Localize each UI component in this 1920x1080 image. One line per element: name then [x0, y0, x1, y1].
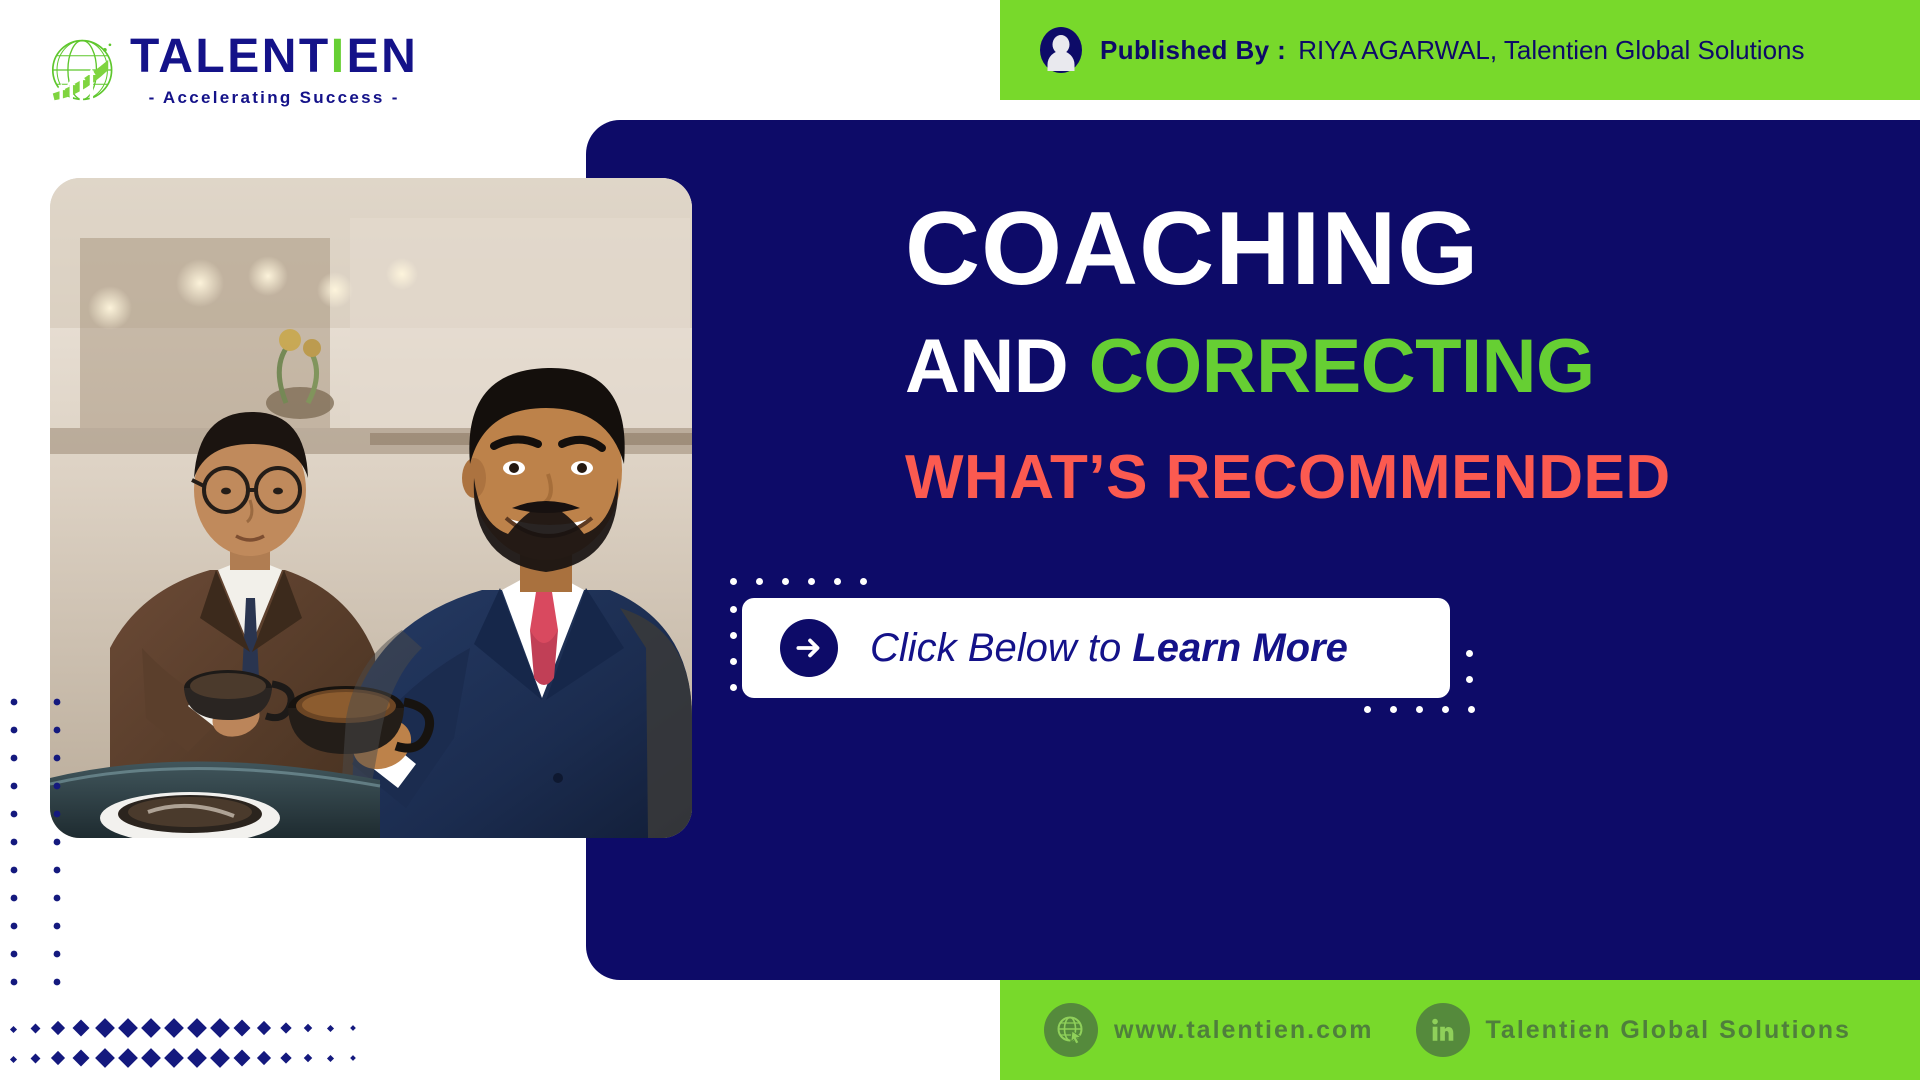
headline-line-2: AND CORRECTING — [905, 328, 1885, 406]
cta-label-normal: Click Below to — [870, 626, 1132, 670]
headline-line-1: COACHING — [905, 196, 1885, 302]
headline-line-2-green: CORRECTING — [1089, 324, 1595, 409]
headline-line-3: WHAT’S RECOMMENDED — [905, 446, 1885, 509]
publisher-bar: Published By : RIYA AGARWAL, Talentien G… — [1000, 0, 1920, 100]
cta-dots-left — [730, 606, 737, 691]
footer-bar: www.talentien.com Talentien Global Solut… — [1000, 980, 1920, 1080]
logo-wordmark-part2: EN — [347, 30, 419, 83]
cta-dots-bottom — [1364, 706, 1475, 713]
footer-linkedin-link[interactable]: Talentien Global Solutions — [1416, 1003, 1851, 1057]
footer-website-link[interactable]: www.talentien.com — [1044, 1003, 1374, 1057]
cta-region: Click Below to Learn More — [724, 578, 1484, 718]
logo-wordmark: TALENTIEN — [130, 30, 418, 83]
logo-wordmark-part1: TALENT — [130, 30, 331, 83]
globe-growth-icon — [36, 28, 120, 112]
user-avatar-icon — [1040, 27, 1082, 73]
headline-block: COACHING AND CORRECTING WHAT’S RECOMMEND… — [905, 196, 1885, 509]
cta-label-bold: Learn More — [1132, 626, 1348, 670]
footer-website-label: www.talentien.com — [1114, 1016, 1374, 1045]
arrow-right-icon — [780, 619, 838, 677]
decor-dots-bottom — [0, 1010, 420, 1080]
footer-linkedin-label: Talentien Global Solutions — [1486, 1016, 1851, 1045]
publisher-name: RIYA AGARWAL, Talentien Global Solutions — [1298, 35, 1804, 66]
linkedin-icon — [1416, 1003, 1470, 1057]
logo-tagline: - Accelerating Success - — [130, 88, 418, 108]
decor-dots-left — [0, 690, 160, 1020]
cta-dots-top — [730, 578, 867, 585]
brand-logo: TALENTIEN - Accelerating Success - — [36, 28, 418, 112]
published-by-label: Published By : — [1100, 35, 1286, 66]
headline-line-2-white: AND — [905, 324, 1068, 409]
globe-cursor-icon — [1044, 1003, 1098, 1057]
logo-flame-i: I — [331, 30, 347, 83]
learn-more-button[interactable]: Click Below to Learn More — [742, 598, 1450, 698]
cta-label: Click Below to Learn More — [870, 626, 1348, 671]
cta-dots-right — [1466, 650, 1473, 683]
